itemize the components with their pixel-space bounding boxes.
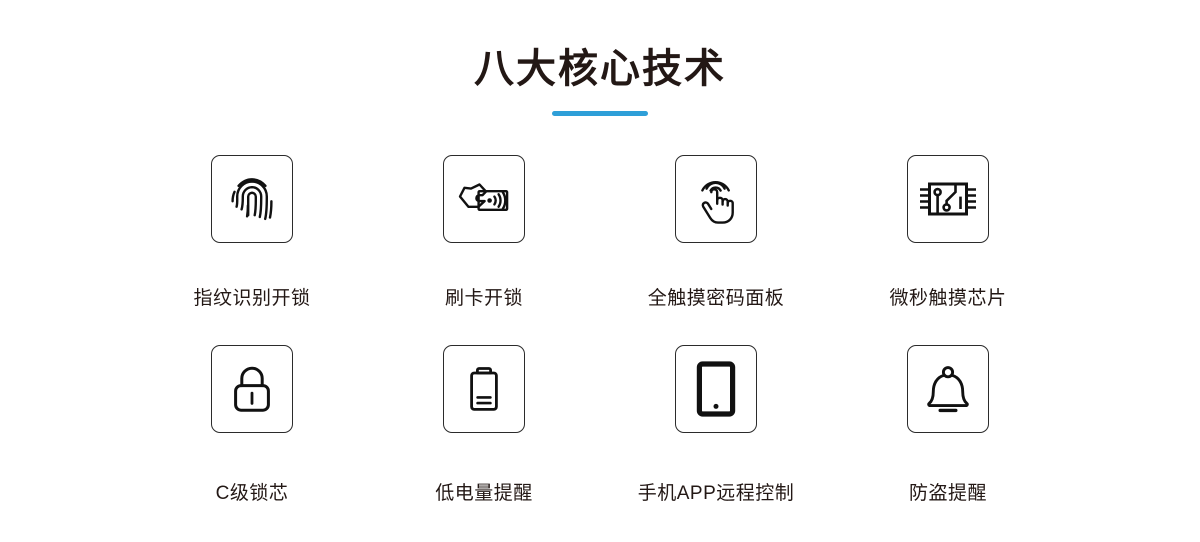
icon-frame bbox=[443, 345, 525, 433]
feature-grid-page: 八大核心技术 bbox=[0, 0, 1200, 542]
fingerprint-icon bbox=[226, 171, 278, 227]
feature-label: C级锁芯 bbox=[216, 481, 289, 507]
touch-hand-icon bbox=[692, 170, 740, 228]
rfid-card-hand-icon bbox=[456, 174, 512, 224]
feature-label: 防盗提醒 bbox=[909, 481, 987, 507]
feature-item-chip[interactable]: 微秒触摸芯片 bbox=[832, 155, 1064, 345]
icon-frame bbox=[675, 155, 757, 243]
low-battery-icon bbox=[464, 361, 504, 417]
icon-frame bbox=[907, 345, 989, 433]
icon-frame bbox=[211, 345, 293, 433]
feature-item-fingerprint[interactable]: 指纹识别开锁 bbox=[136, 155, 368, 345]
smartphone-icon bbox=[696, 360, 736, 418]
feature-label: 指纹识别开锁 bbox=[193, 286, 310, 312]
icon-frame bbox=[907, 155, 989, 243]
feature-item-mobile-app[interactable]: 手机APP远程控制 bbox=[600, 345, 832, 535]
icon-frame bbox=[211, 155, 293, 243]
icon-frame bbox=[675, 345, 757, 433]
feature-item-anti-theft-alert[interactable]: 防盗提醒 bbox=[832, 345, 1064, 535]
feature-label: 手机APP远程控制 bbox=[638, 481, 795, 507]
feature-item-low-battery[interactable]: 低电量提醒 bbox=[368, 345, 600, 535]
page-title: 八大核心技术 bbox=[0, 42, 1200, 96]
page-heading: 八大核心技术 bbox=[0, 42, 1200, 116]
feature-item-touch-panel[interactable]: 全触摸密码面板 bbox=[600, 155, 832, 345]
feature-item-card-swipe[interactable]: 刷卡开锁 bbox=[368, 155, 600, 345]
padlock-icon bbox=[228, 362, 276, 416]
chip-icon bbox=[918, 176, 978, 222]
feature-item-lock-cylinder[interactable]: C级锁芯 bbox=[136, 345, 368, 535]
icon-frame bbox=[443, 155, 525, 243]
title-underline-wrap bbox=[0, 110, 1200, 116]
feature-label: 刷卡开锁 bbox=[445, 286, 523, 312]
feature-label: 低电量提醒 bbox=[435, 481, 533, 507]
feature-label: 微秒触摸芯片 bbox=[889, 286, 1006, 312]
feature-label: 全触摸密码面板 bbox=[648, 286, 785, 312]
bell-icon bbox=[923, 362, 973, 416]
title-underline-accent bbox=[552, 111, 648, 116]
features-grid: 指纹识别开锁 bbox=[136, 155, 1064, 535]
